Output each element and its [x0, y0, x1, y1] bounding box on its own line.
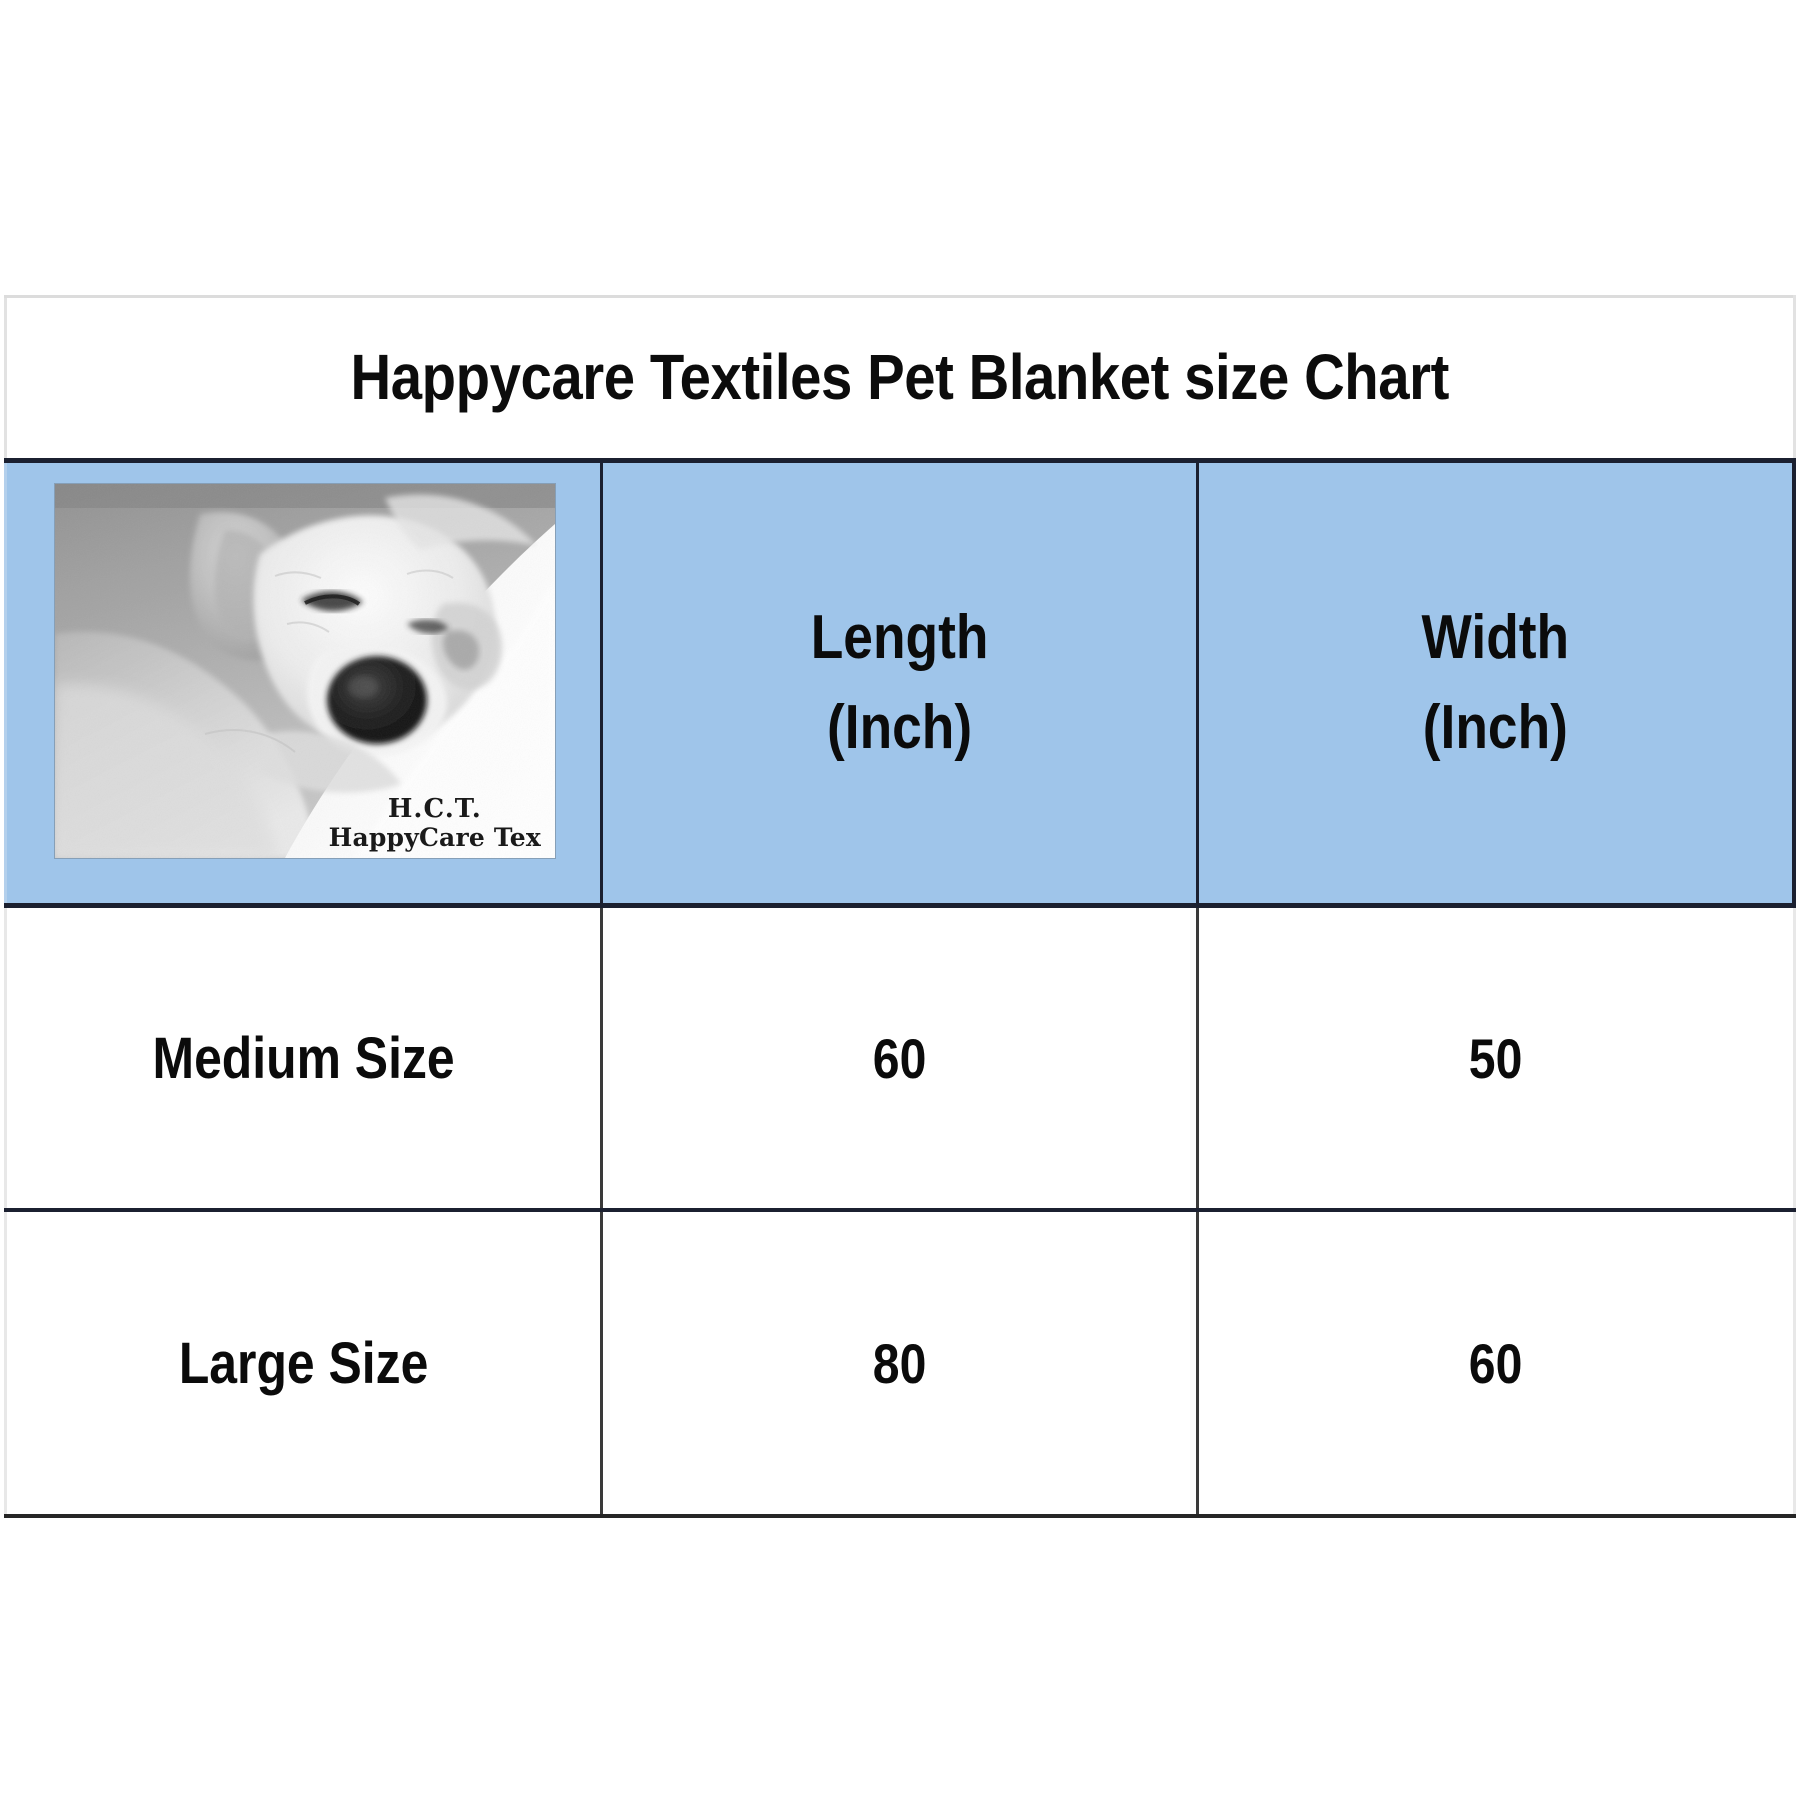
width-column-header-cell: Width (Inch) [1198, 461, 1794, 906]
table-header-row: H.C.T. HappyCare Tex Length (Inch) Width… [6, 461, 1795, 906]
puppy-photo: H.C.T. HappyCare Tex [55, 484, 555, 858]
width-header-label: Width [1241, 593, 1751, 683]
length-header-unit: (Inch) [645, 683, 1155, 773]
table-row: Medium Size 60 50 [6, 906, 1795, 1211]
watermark-brand: HappyCare Tex [329, 824, 541, 852]
product-photo-cell: H.C.T. HappyCare Tex [6, 461, 602, 906]
width-value: 50 [1241, 1026, 1751, 1091]
length-column-header-cell: Length (Inch) [602, 461, 1198, 906]
width-value-cell: 60 [1198, 1210, 1794, 1516]
table-row: Large Size 80 60 [6, 1210, 1795, 1516]
width-header-unit: (Inch) [1241, 683, 1751, 773]
photo-watermark: H.C.T. HappyCare Tex [329, 795, 541, 852]
size-name-label: Medium Size [49, 1025, 559, 1092]
size-chart-page: Happycare Textiles Pet Blanket size Char… [0, 0, 1800, 1800]
watermark-initials: H.C.T. [329, 795, 541, 824]
pet-blanket-size-chart-table: Happycare Textiles Pet Blanket size Char… [4, 295, 1796, 1518]
size-name-cell: Medium Size [6, 906, 602, 1211]
size-name-cell: Large Size [6, 1210, 602, 1516]
size-name-label: Large Size [49, 1330, 559, 1397]
length-value-cell: 60 [602, 906, 1198, 1211]
length-header-label: Length [645, 593, 1155, 683]
chart-title-cell: Happycare Textiles Pet Blanket size Char… [6, 297, 1795, 461]
length-value: 60 [645, 1026, 1155, 1091]
length-value: 80 [645, 1331, 1155, 1396]
page-title: Happycare Textiles Pet Blanket size Char… [114, 344, 1685, 411]
width-value: 60 [1241, 1331, 1751, 1396]
chart-title-row: Happycare Textiles Pet Blanket size Char… [6, 297, 1795, 461]
width-value-cell: 50 [1198, 906, 1794, 1211]
length-value-cell: 80 [602, 1210, 1198, 1516]
